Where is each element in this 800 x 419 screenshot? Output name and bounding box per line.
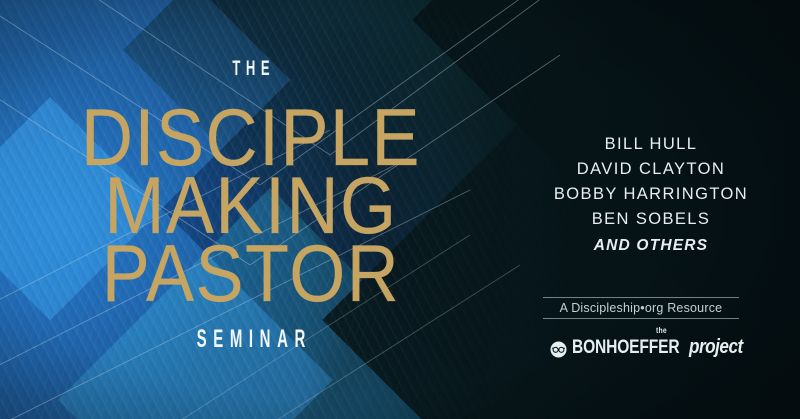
poster-title: DISCIPLE MAKING PASTOR (0, 100, 502, 304)
speaker-name: BOBBY HARRINGTON (502, 182, 800, 207)
resource-banner-text: A Discipleship•org Resource (543, 301, 739, 315)
glasses-circle-icon (550, 341, 567, 358)
logo-project-text: project (689, 336, 743, 359)
poster-content: THE DISCIPLE MAKING PASTOR SEMINAR BILL … (0, 0, 800, 419)
poster-left-column: THE DISCIPLE MAKING PASTOR SEMINAR (0, 0, 502, 419)
seminar-poster: THE DISCIPLE MAKING PASTOR SEMINAR BILL … (0, 0, 800, 419)
speaker-name: BEN SOBELS (502, 207, 800, 232)
logo-bonhoeffer-text: BONHOEFFER (572, 337, 679, 359)
logo-wordmark: the BONHOEFFER project (572, 336, 752, 359)
poster-right-column: BILL HULL DAVID CLAYTON BOBBY HARRINGTON… (502, 0, 800, 419)
poster-kicker: THE (95, 57, 406, 81)
speaker-list-suffix: AND OTHERS (502, 233, 800, 258)
speaker-list: BILL HULL DAVID CLAYTON BOBBY HARRINGTON… (502, 132, 800, 258)
poster-subkicker: SEMINAR (100, 325, 401, 354)
bonhoeffer-project-logo: the BONHOEFFER project (502, 336, 800, 359)
resource-banner: A Discipleship•org Resource (543, 297, 739, 319)
speaker-name: BILL HULL (502, 132, 800, 157)
speaker-name: DAVID CLAYTON (502, 157, 800, 182)
poster-title-line-3: PASTOR (0, 236, 502, 312)
logo-the-text: the (656, 326, 667, 335)
